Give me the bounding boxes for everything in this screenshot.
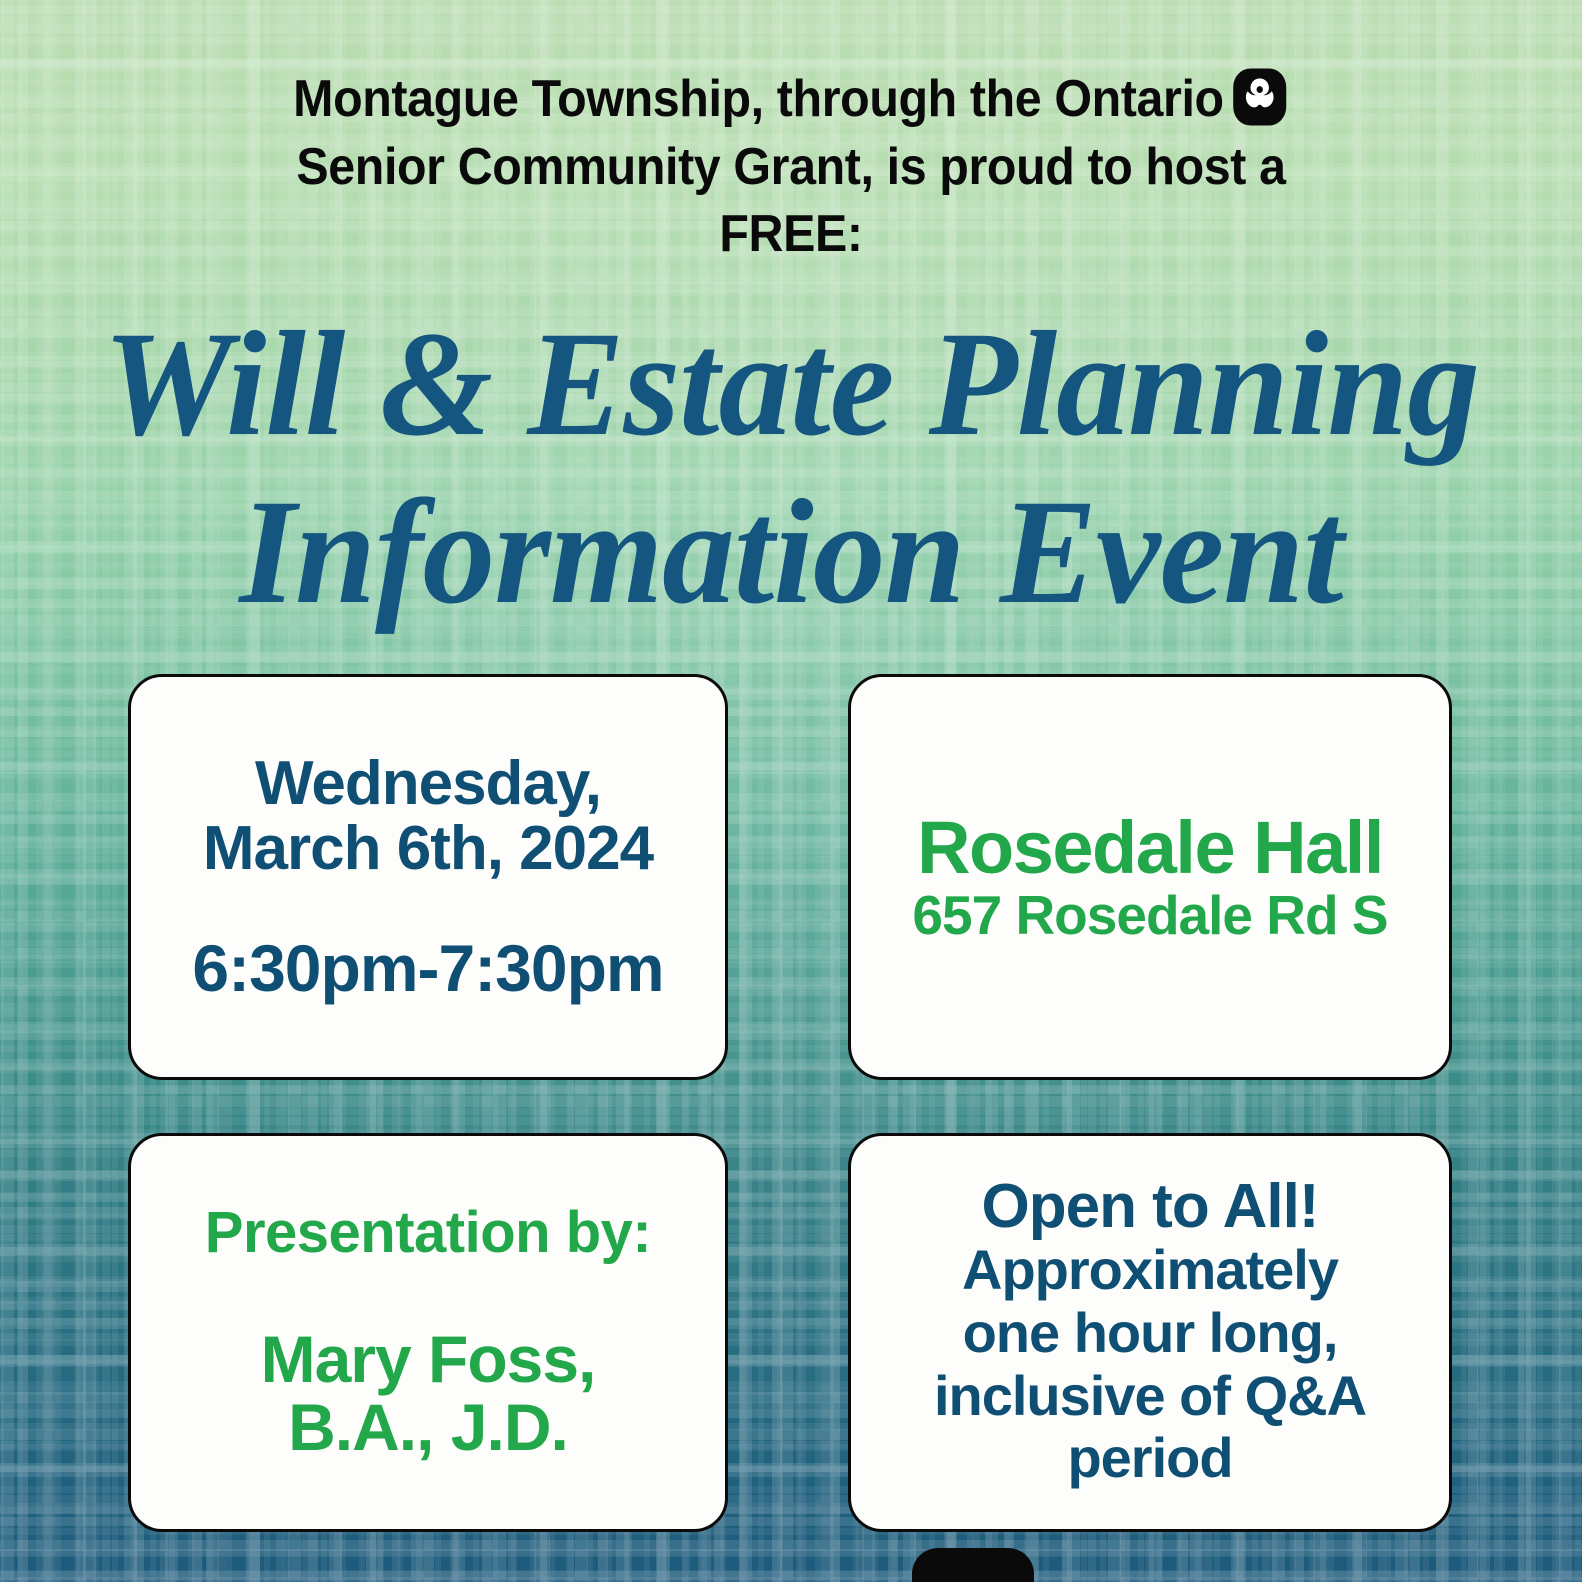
open-to-all-headline: Open to All!	[982, 1175, 1319, 1239]
event-poster: Montague Township, through the Ontario S…	[0, 0, 1582, 1582]
presenter-card: Presentation by: Mary Foss, B.A., J.D.	[128, 1133, 728, 1532]
poster-title: Will & Estate Planning Information Event	[0, 300, 1582, 636]
ontario-trillium-logo	[1231, 66, 1289, 128]
header-line-2: Senior Community Grant, is proud to host…	[195, 134, 1387, 202]
date-time-card: Wednesday, March 6th, 2024 6:30pm-7:30pm	[128, 674, 728, 1080]
presenter-credentials: B.A., J.D.	[261, 1394, 596, 1462]
title-line-1: Will & Estate Planning	[24, 300, 1559, 468]
venue-card: Rosedale Hall 657 Rosedale Rd S	[848, 674, 1452, 1080]
event-date: Wednesday, March 6th, 2024	[203, 751, 653, 882]
presenter-name: Mary Foss, B.A., J.D.	[261, 1326, 596, 1462]
duration-line-1: Approximately	[934, 1239, 1366, 1302]
presenter-label: Presentation by:	[205, 1203, 651, 1264]
venue-name: Rosedale Hall	[917, 810, 1383, 885]
duration-line-2: one hour long,	[934, 1302, 1366, 1365]
header-line-1-text: Montague Township, through the Ontario	[293, 70, 1224, 128]
event-details-card: Open to All! Approximately one hour long…	[848, 1133, 1452, 1532]
duration-line-3: inclusive of Q&A	[934, 1365, 1366, 1428]
header-line-1: Montague Township, through the Ontario	[195, 66, 1387, 134]
bottom-cropped-logo	[912, 1548, 1034, 1582]
header-line-3: FREE:	[195, 201, 1387, 269]
duration-line-4: period	[934, 1427, 1366, 1490]
event-time: 6:30pm-7:30pm	[192, 934, 663, 1003]
venue-address: 657 Rosedale Rd S	[912, 886, 1387, 944]
poster-header: Montague Township, through the Ontario S…	[0, 66, 1582, 269]
event-date-day: Wednesday,	[203, 751, 653, 817]
title-line-2: Information Event	[24, 468, 1559, 636]
event-duration-note: Approximately one hour long, inclusive o…	[934, 1239, 1366, 1490]
presenter-name-line-1: Mary Foss,	[261, 1326, 596, 1394]
event-date-full: March 6th, 2024	[203, 816, 653, 882]
